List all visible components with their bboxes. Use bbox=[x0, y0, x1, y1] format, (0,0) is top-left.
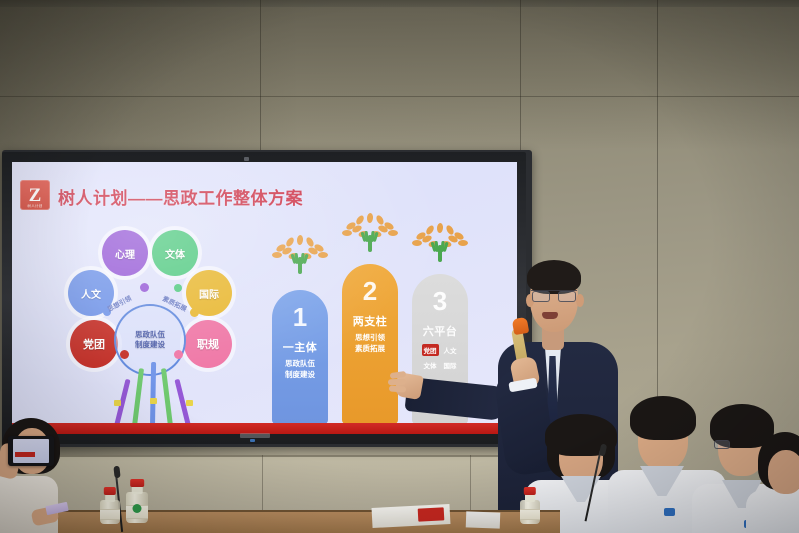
audience-head bbox=[768, 450, 799, 494]
bottle-cap bbox=[130, 479, 144, 487]
connector-dot bbox=[190, 308, 199, 317]
smartphone-screen-content bbox=[15, 452, 35, 457]
audience-member-4 bbox=[752, 440, 799, 533]
audience-hair-front bbox=[545, 414, 617, 456]
pillar-tag-wenti: 文体 bbox=[422, 359, 439, 371]
bubble-label: 党团 bbox=[83, 336, 105, 352]
pillar-subtext: 思政队伍 制度建设 bbox=[285, 358, 315, 381]
audience-hair bbox=[630, 396, 696, 440]
slide-logo: Z 树人计划 bbox=[20, 180, 50, 210]
pillar-number: 3 bbox=[433, 288, 447, 314]
bottle-label bbox=[520, 509, 540, 520]
bubble-label: 心理 bbox=[115, 246, 135, 261]
pillar-heading: 一主体 bbox=[283, 339, 318, 355]
bottle-logo-icon bbox=[133, 504, 142, 513]
root-marker bbox=[150, 398, 157, 404]
bubble-label: 国际 bbox=[199, 286, 219, 301]
smartphone bbox=[8, 436, 54, 466]
pillar-subtext-line2: 素质拓展 bbox=[355, 343, 385, 354]
pillar-number: 2 bbox=[363, 278, 377, 304]
logo-letter: Z bbox=[29, 186, 42, 205]
display-power-led bbox=[250, 439, 255, 442]
microphone-head-icon bbox=[512, 317, 530, 335]
pillar-1: 1 一主体 思政队伍 制度建设 bbox=[272, 290, 328, 424]
tree-icon bbox=[411, 222, 469, 262]
bubble-wenti: 文体 bbox=[152, 230, 198, 276]
eyeglass-lens bbox=[714, 440, 730, 449]
pillar-heading: 六平台 bbox=[423, 323, 458, 339]
presenter-hair bbox=[527, 260, 581, 294]
smartphone-screen bbox=[13, 439, 49, 463]
presenter-ear bbox=[576, 294, 584, 307]
eyeglass-lens bbox=[558, 291, 576, 302]
pillar-tag-guoji: 国际 bbox=[442, 359, 459, 371]
document-sheet bbox=[466, 511, 501, 528]
microphone-head-icon bbox=[113, 466, 120, 479]
root-ribbon bbox=[161, 368, 173, 426]
root-ribbon bbox=[150, 362, 156, 426]
center-label-line2: 制度建设 bbox=[135, 340, 165, 350]
water-bottle bbox=[520, 500, 540, 524]
presenter-finger bbox=[388, 379, 406, 386]
bubble-xinli: 心理 bbox=[102, 230, 148, 276]
pillar-tag-dangtuan: 党团 bbox=[422, 344, 439, 356]
presentation-photo-scene: Z 树人计划 树人计划——思政工作整体方案 心理 文体 人文 国际 党团 职规 … bbox=[0, 0, 799, 533]
root-ribbon bbox=[132, 368, 144, 426]
staff-badge bbox=[664, 508, 675, 516]
water-bottle bbox=[126, 492, 148, 523]
logo-sublabel: 树人计划 bbox=[20, 204, 50, 209]
pillar-subtext: 思想引领 素质拓展 bbox=[355, 332, 385, 355]
lab-coat bbox=[746, 490, 799, 533]
root-marker bbox=[114, 400, 121, 406]
pillar-heading: 两支柱 bbox=[353, 313, 388, 329]
pillar-subtext-line2: 制度建设 bbox=[285, 369, 315, 380]
slide-title: 树人计划——思政工作整体方案 bbox=[58, 184, 303, 209]
pillar-number: 1 bbox=[293, 304, 307, 330]
connector-dot bbox=[140, 283, 149, 292]
root-marker bbox=[186, 400, 193, 406]
pillar-tag-renwen: 人文 bbox=[442, 344, 459, 356]
bubble-label: 职规 bbox=[197, 336, 219, 352]
tree-icon bbox=[341, 212, 399, 252]
display-brand-mark bbox=[240, 433, 270, 438]
pillar-2: 2 两支柱 思想引领 素质拓展 bbox=[342, 264, 398, 424]
document-red-marker bbox=[418, 507, 445, 521]
photographer bbox=[0, 424, 112, 533]
center-label-line1: 思政队伍 bbox=[135, 330, 165, 340]
slide-tree-roots bbox=[108, 356, 214, 426]
camera-sensor-icon bbox=[244, 157, 249, 161]
presenter-mouth bbox=[542, 312, 558, 319]
eyeglass-lens bbox=[532, 291, 550, 302]
pillar-subtext-line1: 思想引领 bbox=[355, 332, 385, 343]
connector-dot bbox=[174, 284, 182, 292]
eyeglasses-icon bbox=[531, 290, 577, 301]
pillar-tag-group: 党团 人文 文体 国际 bbox=[413, 344, 467, 371]
presenter-finger bbox=[389, 385, 406, 392]
bubble-label: 人文 bbox=[81, 286, 101, 301]
pillar-subtext-line1: 思政队伍 bbox=[285, 358, 315, 369]
bottle-cap bbox=[524, 487, 536, 495]
bubble-label: 文体 bbox=[165, 246, 185, 261]
tree-icon bbox=[271, 234, 329, 274]
